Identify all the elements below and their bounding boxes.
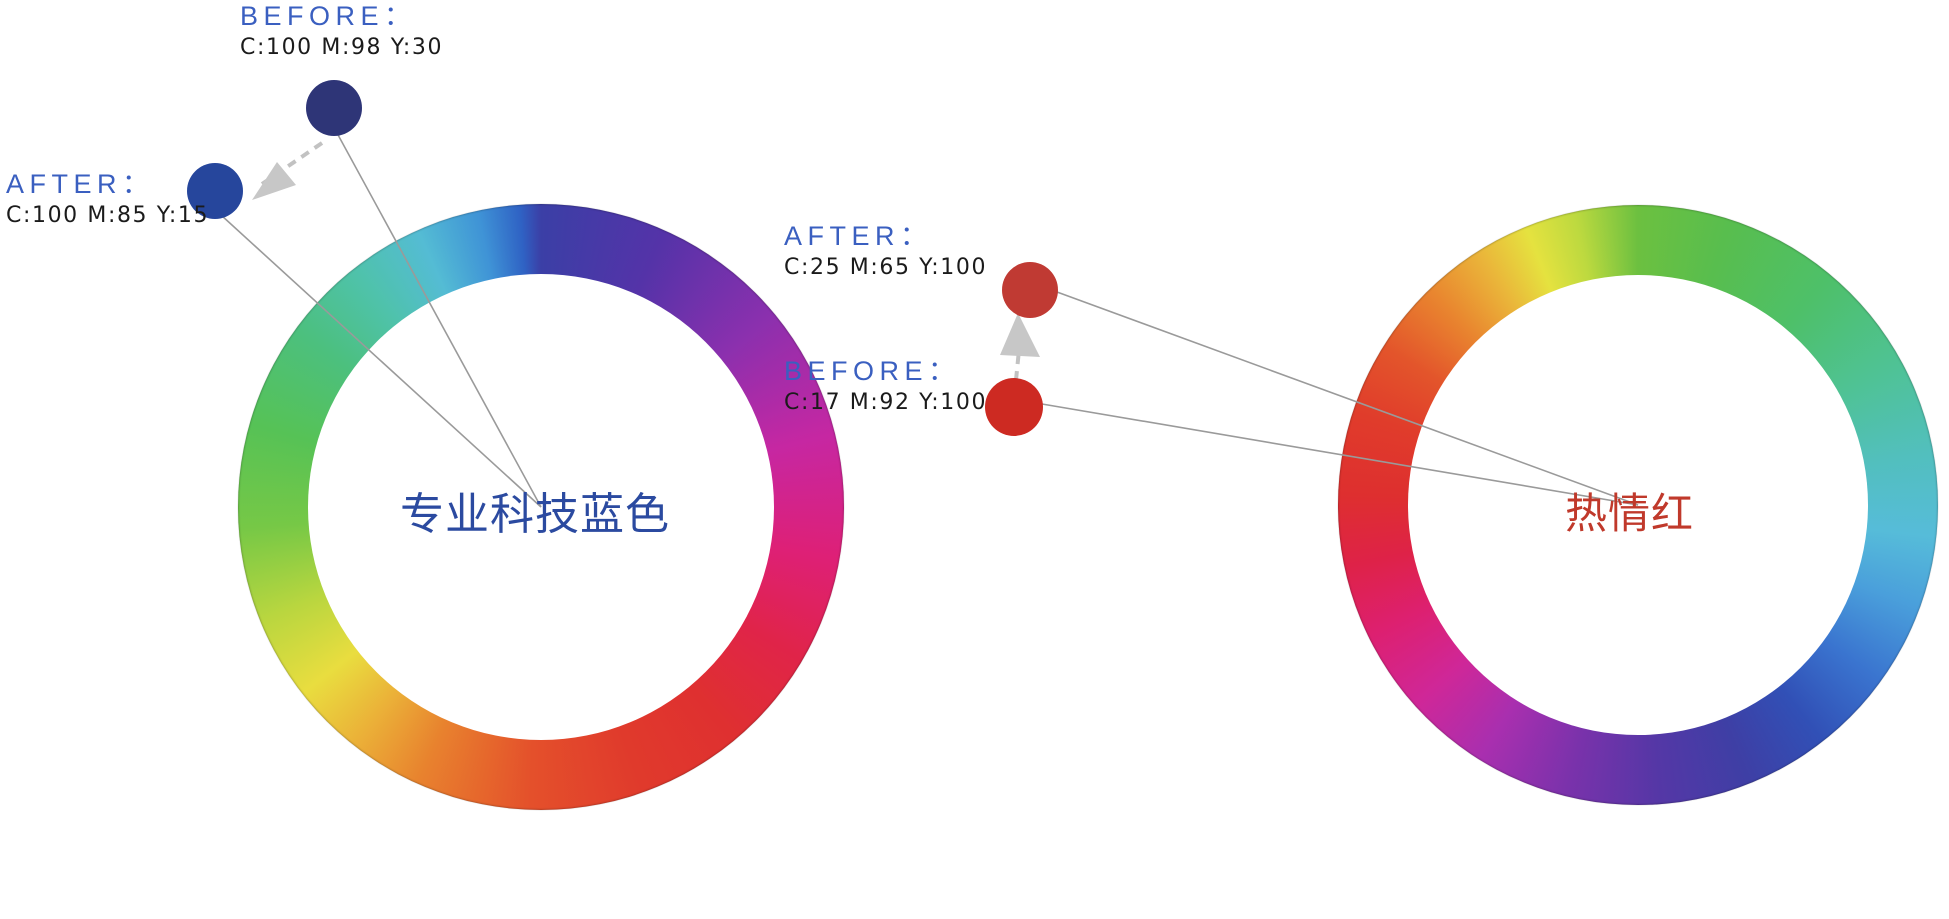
annotation-right-after-kicker: AFTER： <box>784 222 987 250</box>
swatch-dot-left-before[interactable] <box>306 80 362 136</box>
transition-arrow-left-head <box>252 162 296 200</box>
annotation-right-before: BEFORE： C:17 M:92 Y:100 <box>784 357 987 414</box>
wheel-center-label-right: 热情红 <box>1565 480 1694 541</box>
transition-arrow-left-shaft <box>262 143 322 184</box>
annotation-left-before-cmyk: C:100 M:98 Y:30 <box>240 36 443 59</box>
wheel-center-label-left: 专业科技蓝色 <box>400 478 670 542</box>
annotation-right-after-cmyk: C:25 M:65 Y:100 <box>784 256 987 279</box>
annotation-left-after: AFTER： C:100 M:85 Y:15 <box>6 170 209 227</box>
swatch-dot-right-after[interactable] <box>1002 262 1058 318</box>
transition-arrow-right-shaft <box>1016 340 1020 380</box>
annotation-left-before: BEFORE： C:100 M:98 Y:30 <box>240 2 443 59</box>
annotation-left-after-cmyk: C:100 M:85 Y:15 <box>6 204 209 227</box>
swatch-dot-right-before[interactable] <box>985 378 1043 436</box>
diagram-canvas: BEFORE： C:100 M:98 Y:30 AFTER： C:100 M:8… <box>0 0 1949 919</box>
annotation-left-after-kicker: AFTER： <box>6 170 209 198</box>
annotation-right-after: AFTER： C:25 M:65 Y:100 <box>784 222 987 279</box>
annotation-right-before-cmyk: C:17 M:92 Y:100 <box>784 391 987 414</box>
transition-arrow-right-head <box>1000 313 1040 357</box>
annotation-right-before-kicker: BEFORE： <box>784 357 987 385</box>
annotation-left-before-kicker: BEFORE： <box>240 2 443 30</box>
